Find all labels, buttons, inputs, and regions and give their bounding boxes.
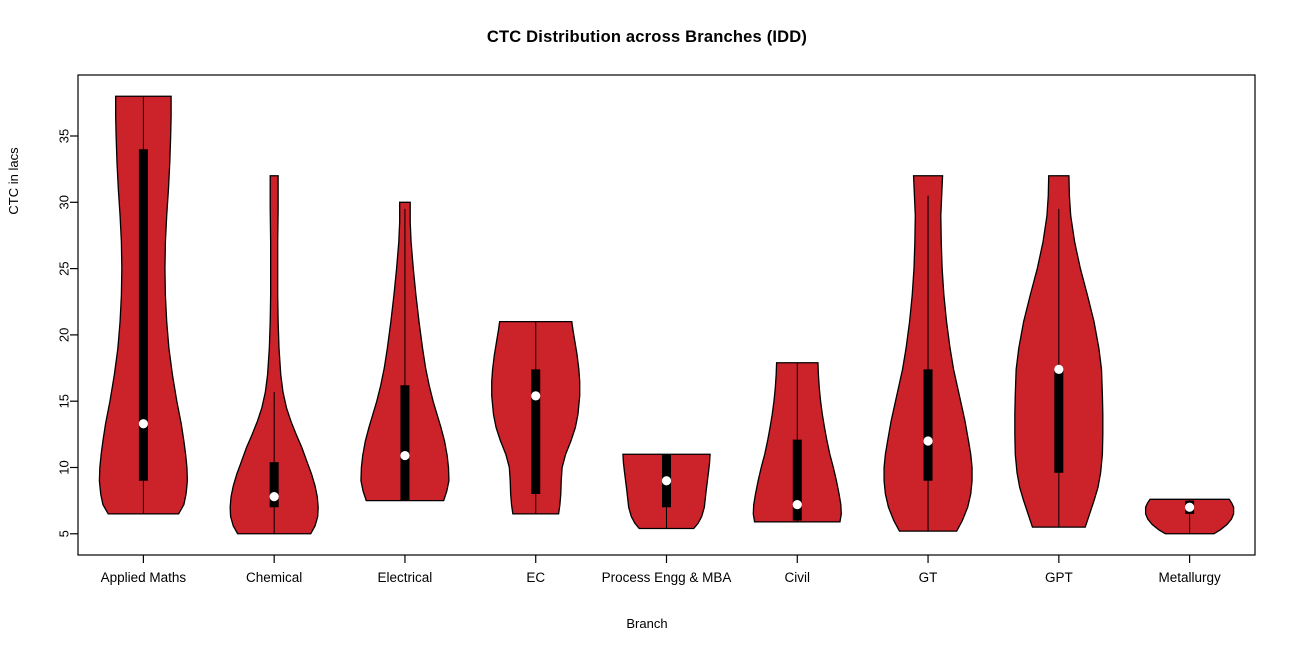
violin-electrical — [361, 202, 449, 500]
x-axis-tick-labels: Applied MathsChemicalElectricalECProcess… — [101, 570, 1221, 585]
iqr-box — [400, 385, 409, 500]
x-axis-ticks — [143, 555, 1189, 563]
median-point — [270, 492, 279, 501]
median-point — [1185, 503, 1194, 512]
y-tick-label: 20 — [57, 328, 72, 342]
y-tick-label: 10 — [57, 460, 72, 474]
iqr-box — [531, 369, 540, 494]
violin-ec — [492, 322, 580, 514]
x-tick-label: Electrical — [378, 570, 433, 585]
violin-metallurgy — [1146, 499, 1234, 533]
violin-applied-maths — [99, 96, 187, 514]
violin-gpt — [1015, 176, 1103, 527]
y-axis-ticks: 5101520253035 — [57, 129, 79, 538]
violin-process-engg-mba — [623, 454, 710, 528]
iqr-box — [1054, 369, 1063, 472]
violin-civil — [753, 363, 841, 522]
x-tick-label: Process Engg & MBA — [602, 570, 732, 585]
y-tick-label: 15 — [57, 394, 72, 408]
y-tick-label: 30 — [57, 195, 72, 209]
x-tick-label: Applied Maths — [101, 570, 187, 585]
iqr-box — [924, 369, 933, 480]
median-point — [531, 391, 540, 400]
median-point — [400, 451, 409, 460]
violin-gt — [884, 176, 972, 531]
median-point — [662, 476, 671, 485]
median-point — [139, 419, 148, 428]
x-tick-label: GPT — [1045, 570, 1073, 585]
x-tick-label: Metallurgy — [1158, 570, 1221, 585]
x-tick-label: Chemical — [246, 570, 302, 585]
x-tick-label: EC — [526, 570, 545, 585]
y-tick-label: 25 — [57, 261, 72, 275]
median-point — [1054, 365, 1063, 374]
x-tick-label: Civil — [785, 570, 811, 585]
violin-chemical — [230, 176, 318, 534]
violin-series-group — [99, 96, 1233, 534]
violin-plot-figure: CTC Distribution across Branches (IDD) C… — [0, 0, 1294, 653]
y-tick-label: 5 — [57, 530, 72, 537]
y-tick-label: 35 — [57, 129, 72, 143]
x-tick-label: GT — [919, 570, 938, 585]
iqr-box — [139, 149, 148, 480]
median-point — [793, 500, 802, 509]
median-point — [923, 436, 932, 445]
plot-area: 5101520253035 Applied MathsChemicalElect… — [0, 0, 1294, 653]
